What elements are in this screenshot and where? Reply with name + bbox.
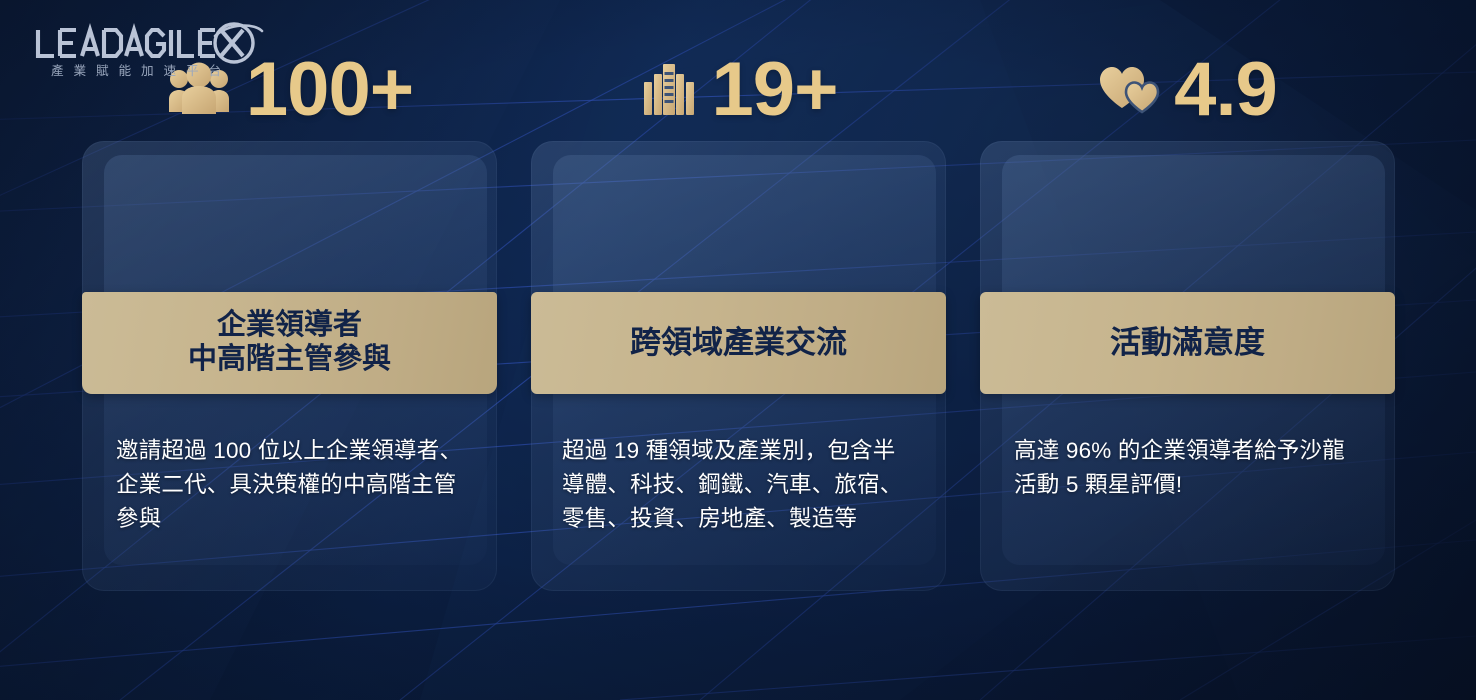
office-building-icon [640, 60, 698, 120]
stat-banner-label: 活動滿意度 [1110, 325, 1265, 361]
stat-value: 19+ [712, 52, 838, 128]
stat-row-satisfaction: 4.9 [980, 52, 1395, 128]
stat-banner-label: 企業領導者 中高階主管參與 [188, 309, 391, 376]
stat-description-satisfaction: 高達 96% 的企業領導者給予沙龍活動 5 顆星評價! [1014, 434, 1366, 502]
stat-banner-satisfaction: 活動滿意度 [980, 292, 1395, 394]
two-hearts-icon [1098, 64, 1160, 116]
stat-banner-label: 跨領域產業交流 [630, 325, 847, 361]
stat-value: 100+ [246, 52, 413, 128]
stat-value: 4.9 [1174, 52, 1277, 128]
logo-tagline: 產 業 賦 能 加 速 平 台 [51, 63, 224, 78]
stat-description-leaders: 邀請超過 100 位以上企業領導者、企業二代、具決策權的中高階主管參與 [116, 434, 474, 537]
logo-artwork: 產 業 賦 能 加 速 平 台 [24, 14, 264, 84]
stat-banner-leaders: 企業領導者 中高階主管參與 [82, 292, 497, 394]
stat-row-industries: 19+ [531, 52, 946, 128]
stat-description-industries: 超過 19 種領域及產業別，包含半導體、科技、鋼鐵、汽車、旅宿、零售、投資、房地… [562, 434, 914, 537]
stats-cards-container: 100+ 企業領導者 中高階主管參與 邀請超過 100 位以上企業領導者、企業二… [0, 0, 1476, 700]
brand-logo: 產 業 賦 能 加 速 平 台 [24, 14, 264, 84]
stat-banner-industries: 跨領域產業交流 [531, 292, 946, 394]
